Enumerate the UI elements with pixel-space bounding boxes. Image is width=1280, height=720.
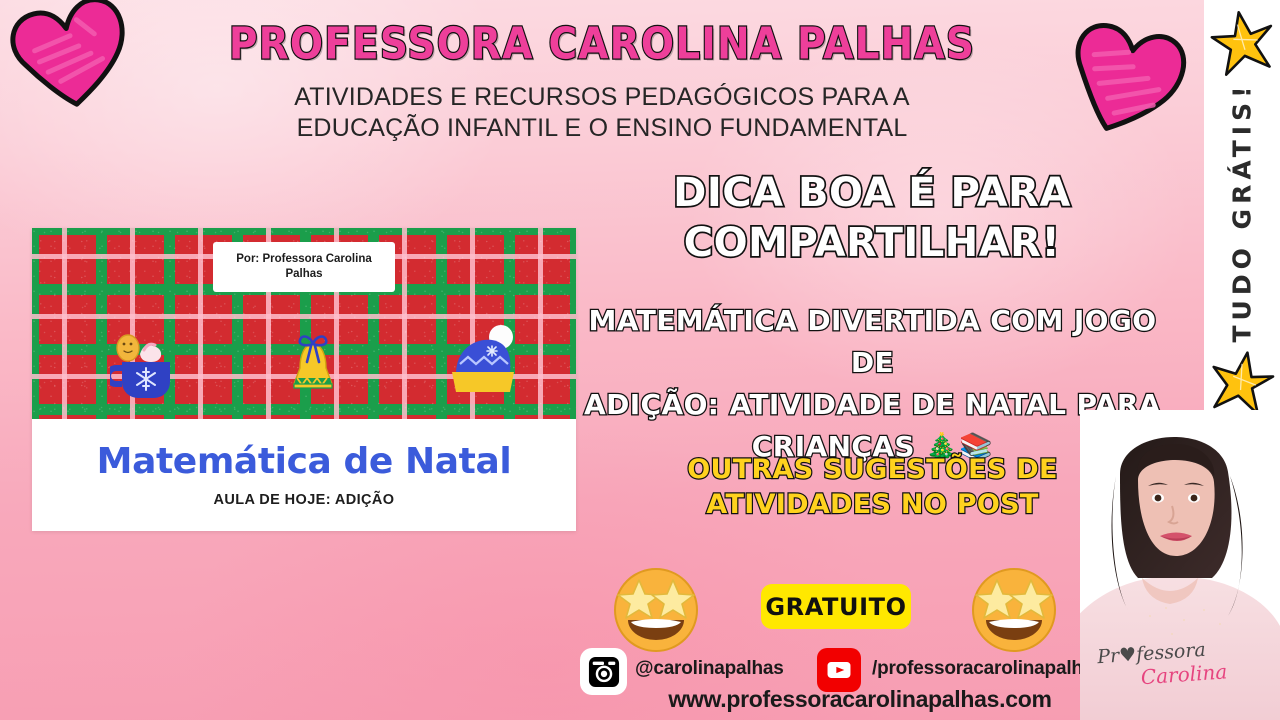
winter-hat-icon: [444, 324, 520, 398]
worksheet-cover-art: Por: Professora Carolina Palhas: [32, 228, 576, 419]
poster-canvas: PROFESSORA CAROLINA PALHAS ATIVIDADES E …: [0, 0, 1280, 720]
yellow-callout-line-2: ATIVIDADES NO POST: [600, 487, 1145, 522]
presenter-photo: Pr♥fessora Carolina: [1080, 410, 1280, 720]
headline: DICA BOA É PARA COMPARTILHAR!: [592, 168, 1152, 268]
worksheet-card-footer: Matemática de Natal AULA DE HOJE: ADIÇÃO: [32, 419, 576, 531]
brand-title: PROFESSORA CAROLINA PALHAS: [0, 19, 1204, 69]
worksheet-subtitle: AULA DE HOJE: ADIÇÃO: [32, 492, 576, 508]
instagram-handle[interactable]: @carolinapalhas: [635, 658, 784, 680]
body-copy-line-2: ADIÇÃO: ATIVIDADE DE NATAL PARA: [580, 384, 1165, 426]
star-doodle-icon: [1205, 4, 1280, 83]
christmas-bell-icon: [278, 322, 348, 402]
yellow-callout: OUTRAS SUGESTÕES DE ATIVIDADES NO POST: [600, 452, 1145, 522]
body-copy-line-1: MATEMÁTICA DIVERTIDA COM JOGO DE: [580, 300, 1165, 384]
cocoa-mug-icon: [110, 328, 186, 400]
gratuito-badge: GRATUITO: [761, 584, 911, 629]
tudo-gratis-strip: TUDO GRÁTIS!: [1204, 0, 1280, 430]
brand-subtitle: ATIVIDADES E RECURSOS PEDAGÓGICOS PARA A…: [0, 82, 1204, 144]
website-url[interactable]: www.professoracarolinapalhas.com: [560, 686, 1160, 713]
brand-subtitle-line-2: EDUCAÇÃO INFANTIL E O ENSINO FUNDAMENTAL: [0, 113, 1204, 144]
headline-line-1: DICA BOA É PARA: [592, 168, 1152, 218]
body-copy: MATEMÁTICA DIVERTIDA COM JOGO DE ADIÇÃO:…: [580, 300, 1165, 469]
star-struck-emoji: [612, 566, 700, 654]
worksheet-title: Matemática de Natal: [32, 441, 576, 482]
headline-line-2: COMPARTILHAR!: [592, 218, 1152, 268]
worksheet-preview-card[interactable]: Por: Professora Carolina Palhas: [32, 228, 576, 531]
worksheet-byline: Por: Professora Carolina Palhas: [213, 242, 395, 292]
youtube-handle[interactable]: /professoracarolinapalhas: [872, 658, 1104, 680]
yellow-callout-line-1: OUTRAS SUGESTÕES DE: [600, 452, 1145, 487]
tudo-gratis-label: TUDO GRÁTIS!: [1228, 81, 1257, 342]
brand-subtitle-line-1: ATIVIDADES E RECURSOS PEDAGÓGICOS PARA A: [0, 82, 1204, 113]
star-struck-emoji: [970, 566, 1058, 654]
